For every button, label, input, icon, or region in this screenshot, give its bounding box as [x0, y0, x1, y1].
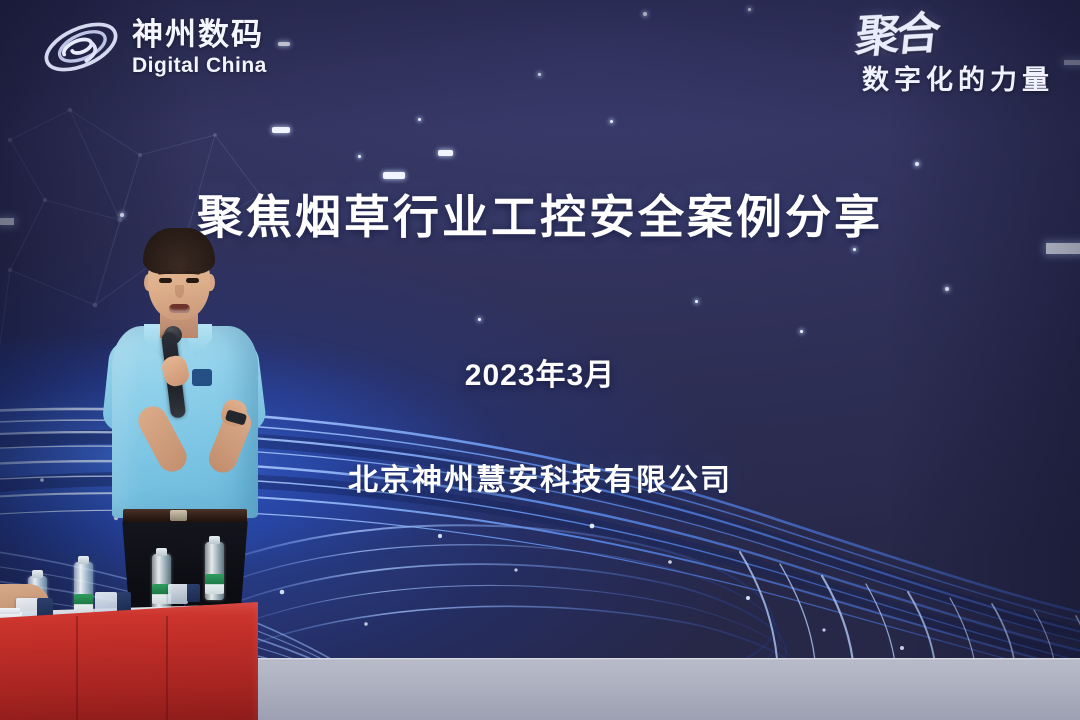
particle-dot [695, 300, 698, 303]
particle-dot [610, 120, 613, 123]
brand-name-cn: 神州数码 [132, 19, 267, 50]
presenter-nose [175, 285, 184, 298]
table-nameplate [168, 584, 188, 604]
bottle-cap [156, 548, 167, 556]
screen-accent-bar [1064, 60, 1080, 65]
presenter-eye-left [159, 278, 172, 283]
presenter-figure [96, 228, 276, 620]
paper-stack [0, 608, 20, 614]
particle-dot [358, 155, 361, 158]
presenter-hair [143, 228, 215, 274]
particle-dash [383, 172, 405, 179]
table-nameplate [187, 584, 200, 602]
table-cloth-fold [166, 616, 168, 720]
particle-dot [418, 118, 421, 121]
presenter-belt-buckle [170, 510, 187, 521]
particle-dot [643, 12, 647, 16]
particle-dot [915, 162, 919, 166]
particle-dot [478, 318, 481, 321]
bottle-cap [32, 570, 43, 578]
conference-stage-photo: 神州数码 Digital China 聚合 数字化的力量 聚焦烟草行业工控安全案… [0, 0, 1080, 720]
particle-dot [538, 73, 541, 76]
digital-china-swirl-icon [40, 16, 122, 78]
bottle-label [205, 574, 224, 594]
particle-dot [945, 287, 949, 291]
presenter-shirt-logo [192, 369, 212, 386]
particle-dot [853, 248, 856, 251]
foreground-head-table [0, 580, 260, 720]
digital-china-logo: 神州数码 Digital China [40, 16, 267, 78]
red-table-cloth [0, 602, 258, 720]
bottle-cap [78, 556, 89, 564]
bottle-cap [209, 536, 220, 544]
event-brand-logo: 聚合 数字化的力量 [856, 16, 1054, 97]
particle-dash [272, 127, 290, 133]
table-cloth-fold [76, 616, 78, 720]
particle-dash [438, 150, 453, 156]
event-calligraphy-title: 聚合 [854, 14, 939, 59]
presenter-eye-right [186, 278, 199, 283]
brand-name-en: Digital China [132, 55, 267, 76]
particle-dot [748, 8, 751, 11]
presenter-mouth [169, 304, 190, 313]
particle-dash [278, 42, 290, 46]
event-tagline: 数字化的力量 [856, 58, 1054, 97]
